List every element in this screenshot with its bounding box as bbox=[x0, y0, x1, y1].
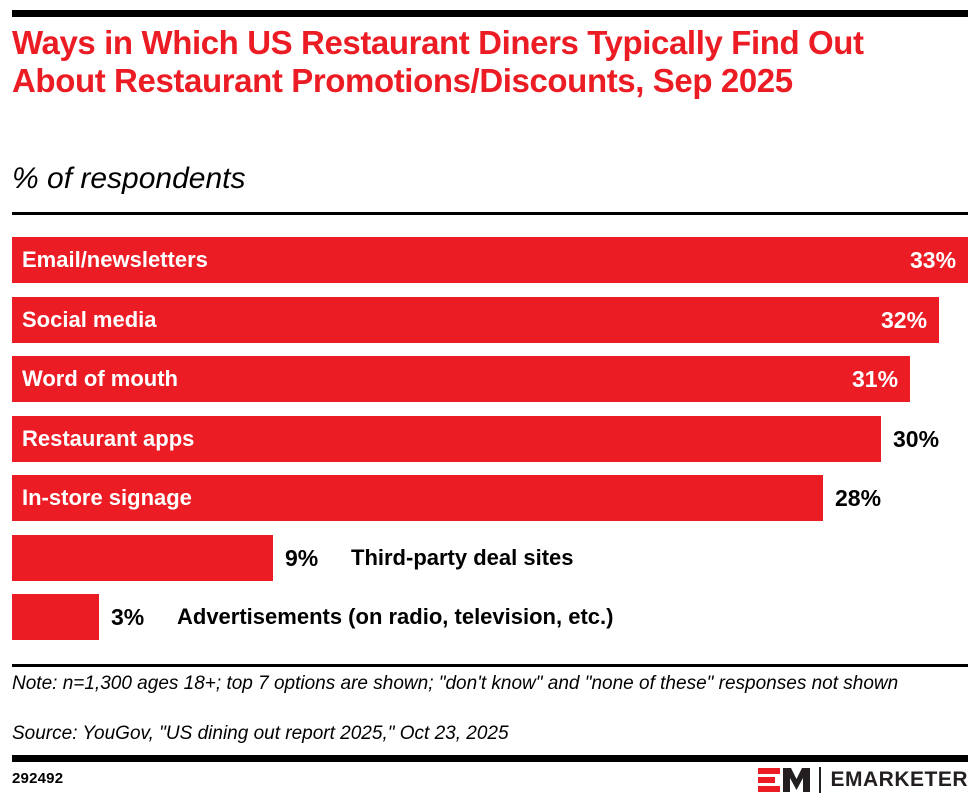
bar-row: Word of mouth31% bbox=[0, 356, 980, 402]
chart-page: Ways in Which US Restaurant Diners Typic… bbox=[0, 0, 980, 811]
bar bbox=[12, 535, 273, 581]
bar bbox=[12, 594, 99, 640]
bar-value-label: 28% bbox=[835, 475, 881, 521]
chart-source: Source: YouGov, "US dining out report 20… bbox=[12, 722, 962, 746]
bar-value-label: 30% bbox=[893, 416, 939, 462]
bar-value-label: 32% bbox=[881, 297, 927, 343]
bar-row: Restaurant apps30% bbox=[0, 416, 980, 462]
bar-category-label: In-store signage bbox=[22, 475, 192, 521]
bar-row: Email/newsletters33% bbox=[0, 237, 980, 283]
bar-category-label: Third-party deal sites bbox=[351, 535, 574, 581]
bar-category-label: Word of mouth bbox=[22, 356, 178, 402]
logo-divider bbox=[819, 767, 821, 793]
emarketer-logo: EMARKETER bbox=[758, 766, 968, 794]
bar-value-label: 31% bbox=[852, 356, 898, 402]
bar-value-label: 33% bbox=[910, 237, 956, 283]
bar-category-label: Social media bbox=[22, 297, 157, 343]
bar-category-label: Advertisements (on radio, television, et… bbox=[177, 594, 613, 640]
bar-row: In-store signage28% bbox=[0, 475, 980, 521]
em-monogram-icon bbox=[758, 766, 810, 794]
bar-row: Social media32% bbox=[0, 297, 980, 343]
bar-row: Third-party deal sites9% bbox=[0, 535, 980, 581]
chart-id: 292492 bbox=[12, 770, 63, 787]
bar-category-label: Email/newsletters bbox=[22, 237, 208, 283]
bar-value-label: 9% bbox=[285, 535, 318, 581]
logo-wordmark: EMARKETER bbox=[830, 767, 968, 793]
bar-value-label: 3% bbox=[111, 594, 144, 640]
note-divider-rule bbox=[12, 664, 968, 667]
footer-divider-rule bbox=[12, 755, 968, 762]
chart-note: Note: n=1,300 ages 18+; top 7 options ar… bbox=[12, 672, 962, 696]
bar-row: Advertisements (on radio, television, et… bbox=[0, 594, 980, 640]
bar-category-label: Restaurant apps bbox=[22, 416, 194, 462]
